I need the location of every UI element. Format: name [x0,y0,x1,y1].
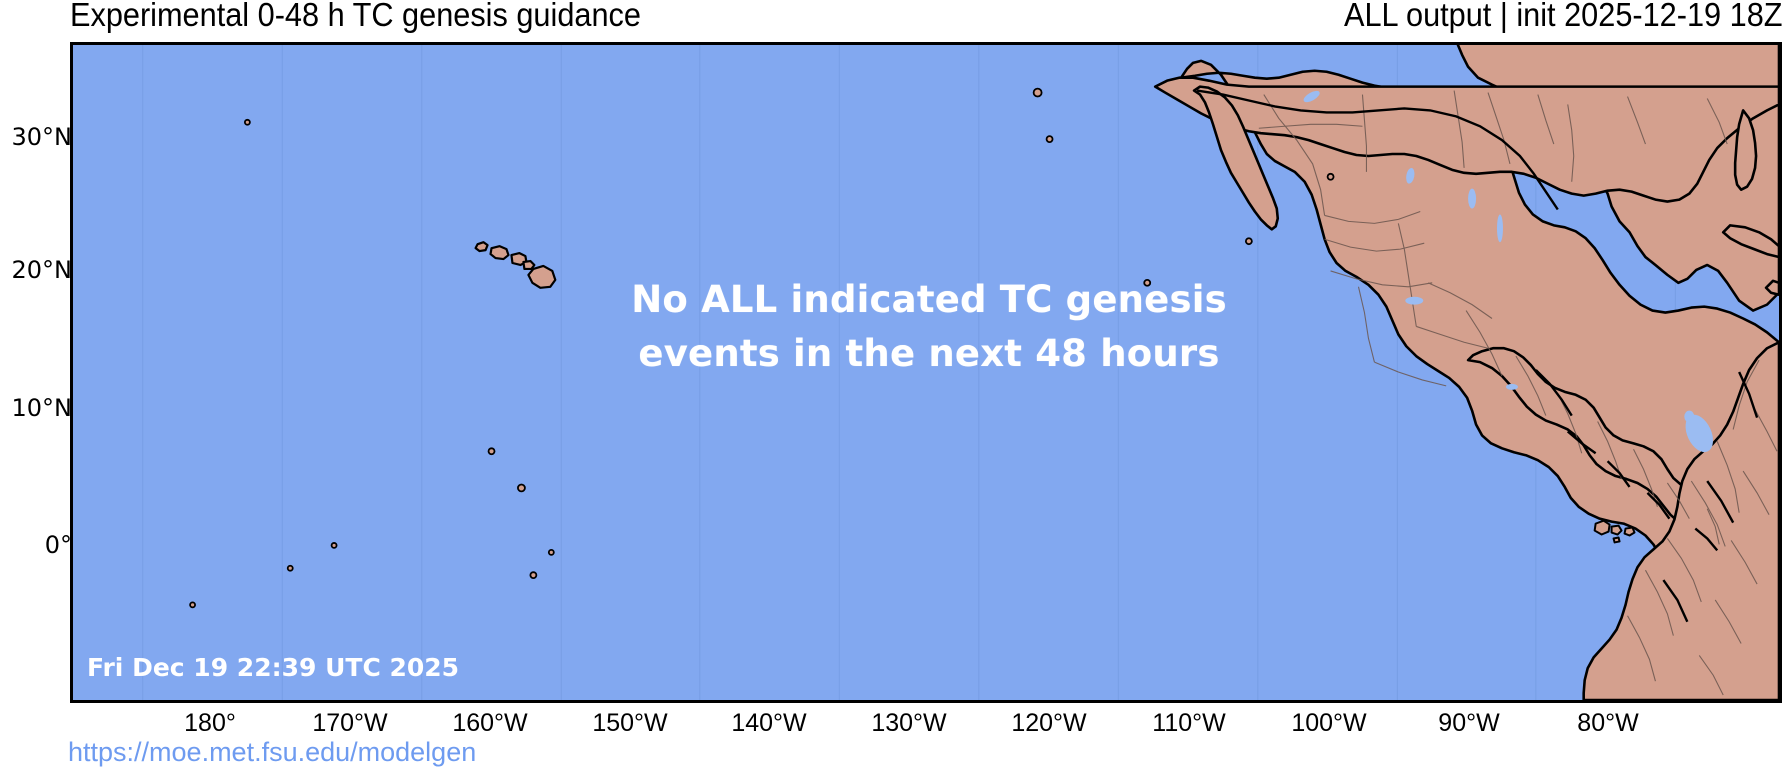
x-tick-label: 120°W [1011,709,1086,738]
x-tick-label: 170°W [312,709,387,738]
x-tick-label: 130°W [871,709,946,738]
y-tick-label: 20°N [0,256,72,284]
y-tick-label: 10°N [0,394,72,422]
x-tick-label: 150°W [592,709,667,738]
page-title: Experimental 0-48 h TC genesis guidance [70,0,641,34]
y-tick-label: 30°N [0,123,72,151]
map-plot-area[interactable]: No ALL indicated TC genesis events in th… [70,42,1782,703]
x-tick-label: 110°W [1152,709,1225,738]
source-url-link[interactable]: https://moe.met.fsu.edu/modelgen [68,737,476,768]
x-tick-label: 140°W [731,709,806,738]
y-tick-label: 0° [0,531,72,559]
x-tick-label: 90°W [1438,709,1499,738]
timestamp-label: Fri Dec 19 22:39 UTC 2025 [87,653,459,682]
chart-header: Experimental 0-48 h TC genesis guidance … [0,0,1789,40]
x-tick-label: 80°W [1577,709,1638,738]
x-tick-label: 180° [184,709,236,738]
x-tick-label: 160°W [452,709,527,738]
model-init-label: ALL output | init 2025-12-19 18Z [1344,0,1783,34]
x-tick-label: 100°W [1291,709,1366,738]
map-graphic [73,45,1779,700]
